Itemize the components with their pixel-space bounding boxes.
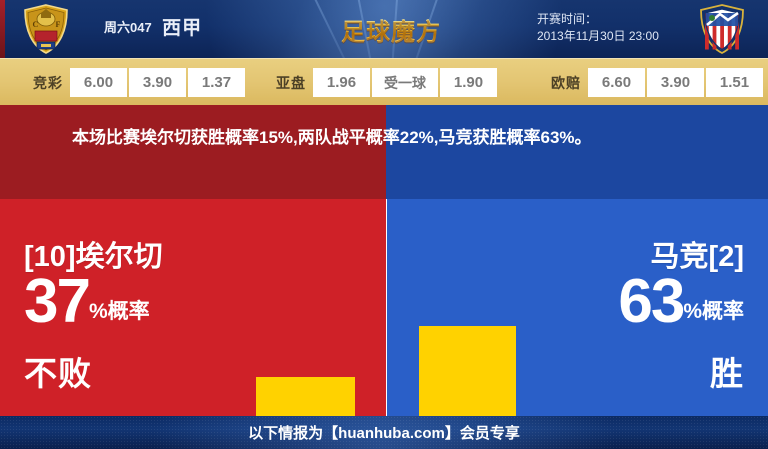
summary-banner: 本场比赛埃尔切获胜概率15%,两队战平概率22%,马竞获胜概率63%。 xyxy=(0,105,768,199)
odds-group-label: 亚盘 xyxy=(276,68,313,97)
match-title: 周六047 西甲 xyxy=(104,13,202,40)
summary-text: 本场比赛埃尔切获胜概率15%,两队战平概率22%,马竞获胜概率63%。 xyxy=(72,123,712,153)
odds-cell-away[interactable]: 1.51 xyxy=(706,68,763,97)
away-probability-value: 63 %概率 xyxy=(618,273,744,331)
odds-group-yapan: 亚盘 1.96 受一球 1.90 xyxy=(276,68,499,97)
away-percent-suffix: %概率 xyxy=(683,297,744,331)
odds-cell-away[interactable]: 1.37 xyxy=(188,68,245,97)
kickoff-time: 开赛时间： 2013年11月30日 23:00 xyxy=(537,11,659,45)
brand-logo[interactable]: 足球魔方 xyxy=(332,8,450,50)
odds-cell-handicap[interactable]: 受一球 xyxy=(372,68,438,97)
match-round: 周六047 xyxy=(104,20,152,35)
kickoff-label: 开赛时间： xyxy=(537,11,659,28)
elche-cf-crest-icon: C F xyxy=(22,4,70,54)
home-percent-number: 37 xyxy=(24,273,89,331)
odds-cell-away[interactable]: 1.90 xyxy=(440,68,497,97)
odds-group-label: 竞彩 xyxy=(33,68,70,97)
panel-divider xyxy=(386,199,387,416)
brand-logo-text: 足球魔方 xyxy=(341,12,441,47)
odds-bar: 竞彩 6.00 3.90 1.37 亚盘 1.96 受一球 1.90 欧赔 6.… xyxy=(0,58,768,105)
footer-notice: 以下情报为【huanhuba.com】会员专享 xyxy=(0,416,768,449)
odds-cell-home[interactable]: 6.60 xyxy=(588,68,645,97)
odds-cell-home[interactable]: 1.96 xyxy=(313,68,370,97)
odds-cell-draw[interactable]: 3.90 xyxy=(647,68,704,97)
away-outcome-label: 胜 xyxy=(710,347,744,395)
odds-cell-draw[interactable]: 3.90 xyxy=(129,68,186,97)
match-prediction-card: C F 周六047 西甲 足球魔方 开赛时间： 2013年11月30日 23:0… xyxy=(0,0,768,449)
header-bar: C F 周六047 西甲 足球魔方 开赛时间： 2013年11月30日 23:0… xyxy=(0,0,768,58)
match-league: 西甲 xyxy=(162,18,202,39)
svg-text:C: C xyxy=(33,20,39,29)
odds-group-oupei: 欧赔 6.60 3.90 1.51 xyxy=(551,68,765,97)
home-outcome-label: 不败 xyxy=(24,347,92,395)
odds-group-jingcai: 竞彩 6.00 3.90 1.37 xyxy=(33,68,247,97)
odds-group-label: 欧赔 xyxy=(551,68,588,97)
atletico-madrid-crest-icon xyxy=(698,4,746,54)
home-probability-value: 37 %概率 xyxy=(24,273,150,331)
home-percent-suffix: %概率 xyxy=(89,297,150,331)
kickoff-value: 2013年11月30日 23:00 xyxy=(537,28,659,45)
svg-text:F: F xyxy=(56,20,61,29)
odds-cell-home[interactable]: 6.00 xyxy=(70,68,127,97)
header-left-stripe xyxy=(0,0,5,58)
footer-bar: 以下情报为【huanhuba.com】会员专享 xyxy=(0,416,768,449)
away-percent-number: 63 xyxy=(618,273,683,331)
